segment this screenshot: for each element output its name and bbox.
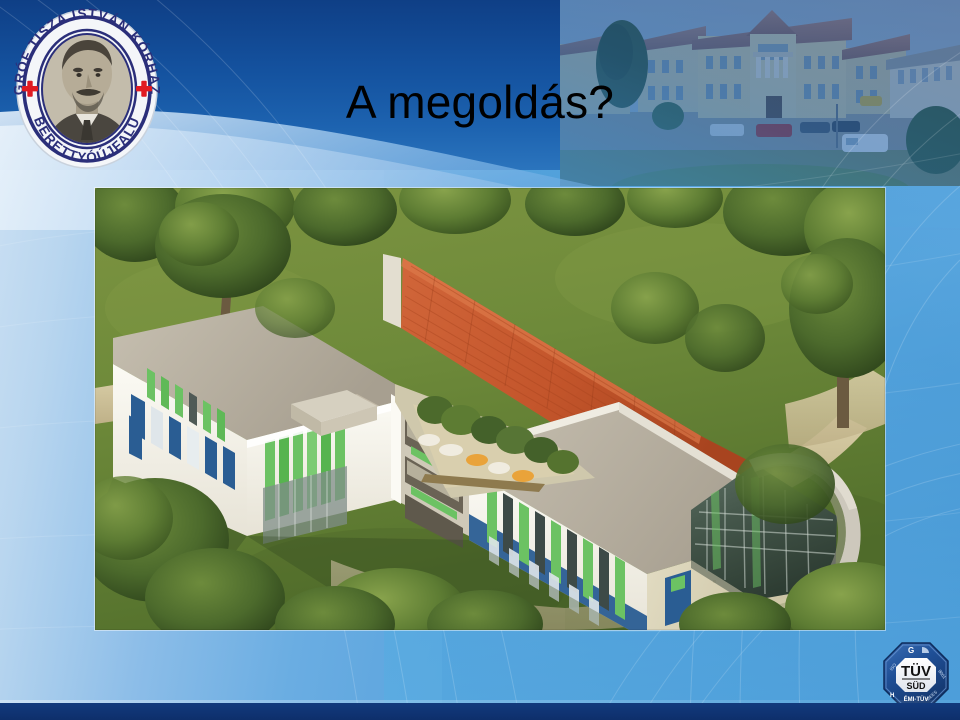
hospital-crest-logo: GRÓF TISZA ISTVÁN KÓRHÁZ BERETTYÓÚJFALU (14, 8, 160, 170)
new-hospital-architectural-rendering (95, 188, 885, 630)
tuv-seal-artwork: TÜV SÜD ÉMI-TÜV ISO 9001 MEES H G (882, 641, 950, 709)
rendering-artwork (95, 188, 885, 630)
footer-navy-band (0, 703, 960, 720)
tuv-sud-certification-seal: TÜV SÜD ÉMI-TÜV ISO 9001 MEES H G (882, 641, 950, 709)
page-title: A megoldás? (200, 78, 760, 126)
presentation-slide: A megoldás? (0, 0, 960, 720)
tuv-ring-label-h: H (890, 693, 894, 699)
crest-artwork: GRÓF TISZA ISTVÁN KÓRHÁZ BERETTYÓÚJFALU (14, 8, 160, 170)
tuv-main-text: TÜV (901, 663, 931, 680)
tuv-ring-label-g: G (908, 646, 914, 655)
tuv-sub-text: SÜD (906, 681, 926, 691)
